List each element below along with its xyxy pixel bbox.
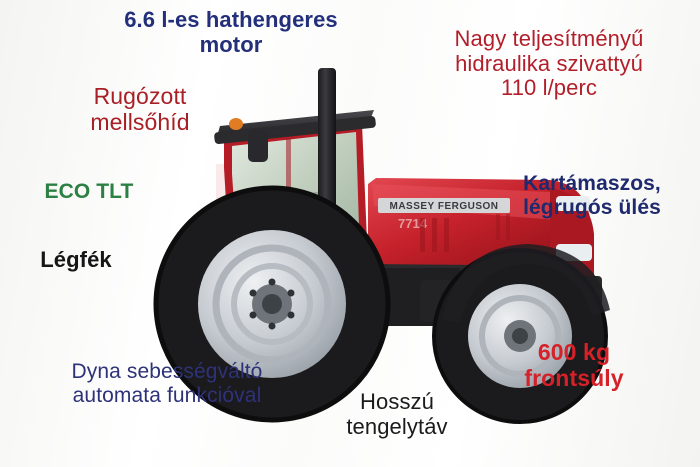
callout-front-weight: 600 kg frontsúly (484, 340, 664, 392)
callout-air-brake: Légfék (16, 248, 136, 273)
callout-wheelbase: Hosszú tengelytáv (312, 390, 482, 439)
callout-engine: 6.6 l-es hathengeres motor (86, 8, 376, 57)
callout-transmission: Dyna sebességváltó automata funkcióval (22, 360, 312, 407)
brand-badge-text: MASSEY FERGUSON (390, 201, 499, 212)
callout-hydraulics: Nagy teljesítményű hidraulika szivattyú … (404, 27, 694, 101)
infographic-poster: MASSEY FERGUSON 7714 (0, 0, 700, 467)
callout-seat: Kartámaszos, légrugós ülés (492, 172, 692, 219)
callout-front-axle: Rugózott mellsőhíd (40, 84, 240, 136)
callout-eco-pto: ECO TLT (14, 180, 164, 204)
